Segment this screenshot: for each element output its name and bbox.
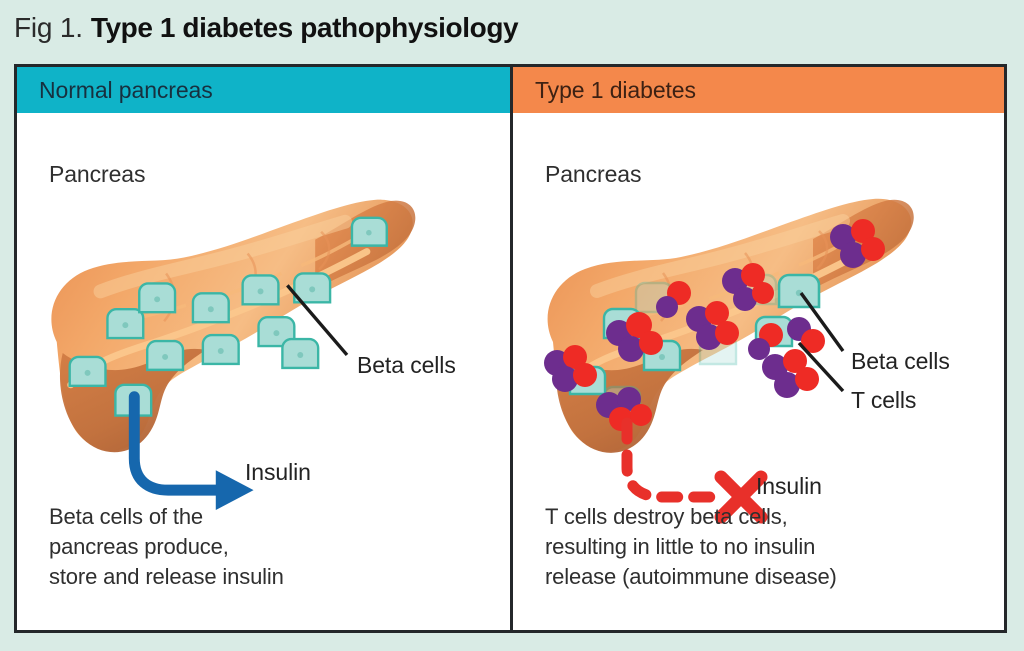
lobule-contour (743, 253, 753, 297)
duct-branch (212, 273, 282, 299)
t-cell-cluster (748, 323, 783, 360)
callout-beta-cells-normal: Beta cells (357, 352, 456, 379)
callout-beta-cells-t1d: Beta cells (851, 348, 950, 375)
beta-cell-secreting (115, 385, 151, 416)
t-cell-group (544, 219, 885, 431)
insulin-arrow (134, 397, 253, 510)
beta-cell (282, 339, 318, 368)
callout-insulin-t1d: Insulin (756, 473, 822, 500)
duct-branch (709, 273, 779, 299)
panel-t1d-caption: T cells destroy beta cells, resulting in… (545, 502, 837, 592)
pancreatic-duct (71, 252, 367, 385)
beta-cell-destroyed (740, 275, 776, 304)
callout-t-cells-t1d: T cells (851, 387, 916, 414)
lobule-contour (319, 232, 329, 270)
beta-cell-destroyed (700, 335, 736, 364)
duct-branch (799, 237, 855, 265)
pancreas-head-shape (556, 349, 703, 453)
lobule-contour (246, 254, 256, 298)
beta-cell (756, 317, 792, 346)
pancreas-head-shape (60, 349, 206, 452)
beta-cell (243, 275, 279, 304)
t-cell-cluster (544, 345, 597, 392)
panel-normal-pancreas: Normal pancreas Pancreas (17, 67, 513, 630)
pancreas-highlight (100, 222, 345, 292)
callout-insulin-normal: Insulin (245, 459, 311, 486)
organ-label-normal: Pancreas (49, 161, 145, 188)
beta-cell-group (570, 275, 819, 416)
beta-cell (70, 357, 106, 386)
t-cell-cluster (606, 312, 663, 362)
leader-line-beta-cells (287, 285, 347, 355)
beta-cell (203, 335, 239, 364)
figure-title-text: Type 1 diabetes pathophysiology (91, 12, 518, 44)
leader-line-t-cells (799, 343, 843, 391)
t-cell-cluster (722, 263, 774, 311)
duct-branch (301, 238, 357, 266)
pancreas-highlight (597, 221, 843, 291)
beta-cell (139, 283, 175, 312)
lobule-contour (817, 231, 827, 269)
beta-cell-destroyed (636, 283, 672, 312)
pancreas-tail-shape (315, 201, 415, 290)
t-cell-cluster (830, 219, 885, 268)
panel-t1d-header-label: Type 1 diabetes (535, 77, 696, 104)
beta-cell-labelled (779, 275, 819, 307)
organ-label-t1d: Pancreas (545, 161, 641, 188)
t-cell-cluster (656, 281, 691, 318)
beta-cell (352, 218, 387, 246)
lobule-contour (661, 273, 671, 321)
pancreatic-duct (567, 251, 865, 385)
beta-cell (294, 273, 330, 302)
duct-branch (609, 305, 683, 325)
pancreas-body-shape (51, 200, 412, 451)
figure-board: Normal pancreas Pancreas (14, 64, 1007, 633)
blocked-insulin-path (627, 423, 725, 497)
panel-normal-caption: Beta cells of the pancreas produce, stor… (49, 502, 284, 592)
leader-line-beta-cells (801, 293, 843, 351)
beta-cell (604, 309, 640, 338)
beta-cell-destroyed (604, 387, 640, 416)
beta-cell (193, 293, 229, 322)
t-cell-cluster (762, 349, 819, 398)
figure-title: Fig 1. Type 1 diabetes pathophysiology (14, 4, 1004, 52)
duct-branch (112, 305, 186, 325)
pancreas-tail-shape (813, 200, 914, 289)
lobule-contour (164, 273, 174, 321)
beta-cell (259, 317, 295, 346)
t-cell-cluster (686, 301, 739, 350)
panel-type-1-diabetes: Type 1 diabetes Pancreas (513, 67, 1004, 630)
panel-t1d-header: Type 1 diabetes (513, 67, 1004, 113)
panel-normal-header: Normal pancreas (17, 67, 510, 113)
t-cell-cluster-labelled (787, 317, 825, 353)
beta-cell (147, 341, 183, 370)
figure-number: Fig 1. (14, 12, 83, 44)
beta-cell (570, 367, 605, 394)
beta-cell (107, 309, 143, 338)
beta-cell-group (70, 218, 387, 416)
beta-cell (644, 341, 680, 370)
panel-normal-header-label: Normal pancreas (39, 77, 213, 104)
t-cell-cluster (596, 387, 652, 431)
